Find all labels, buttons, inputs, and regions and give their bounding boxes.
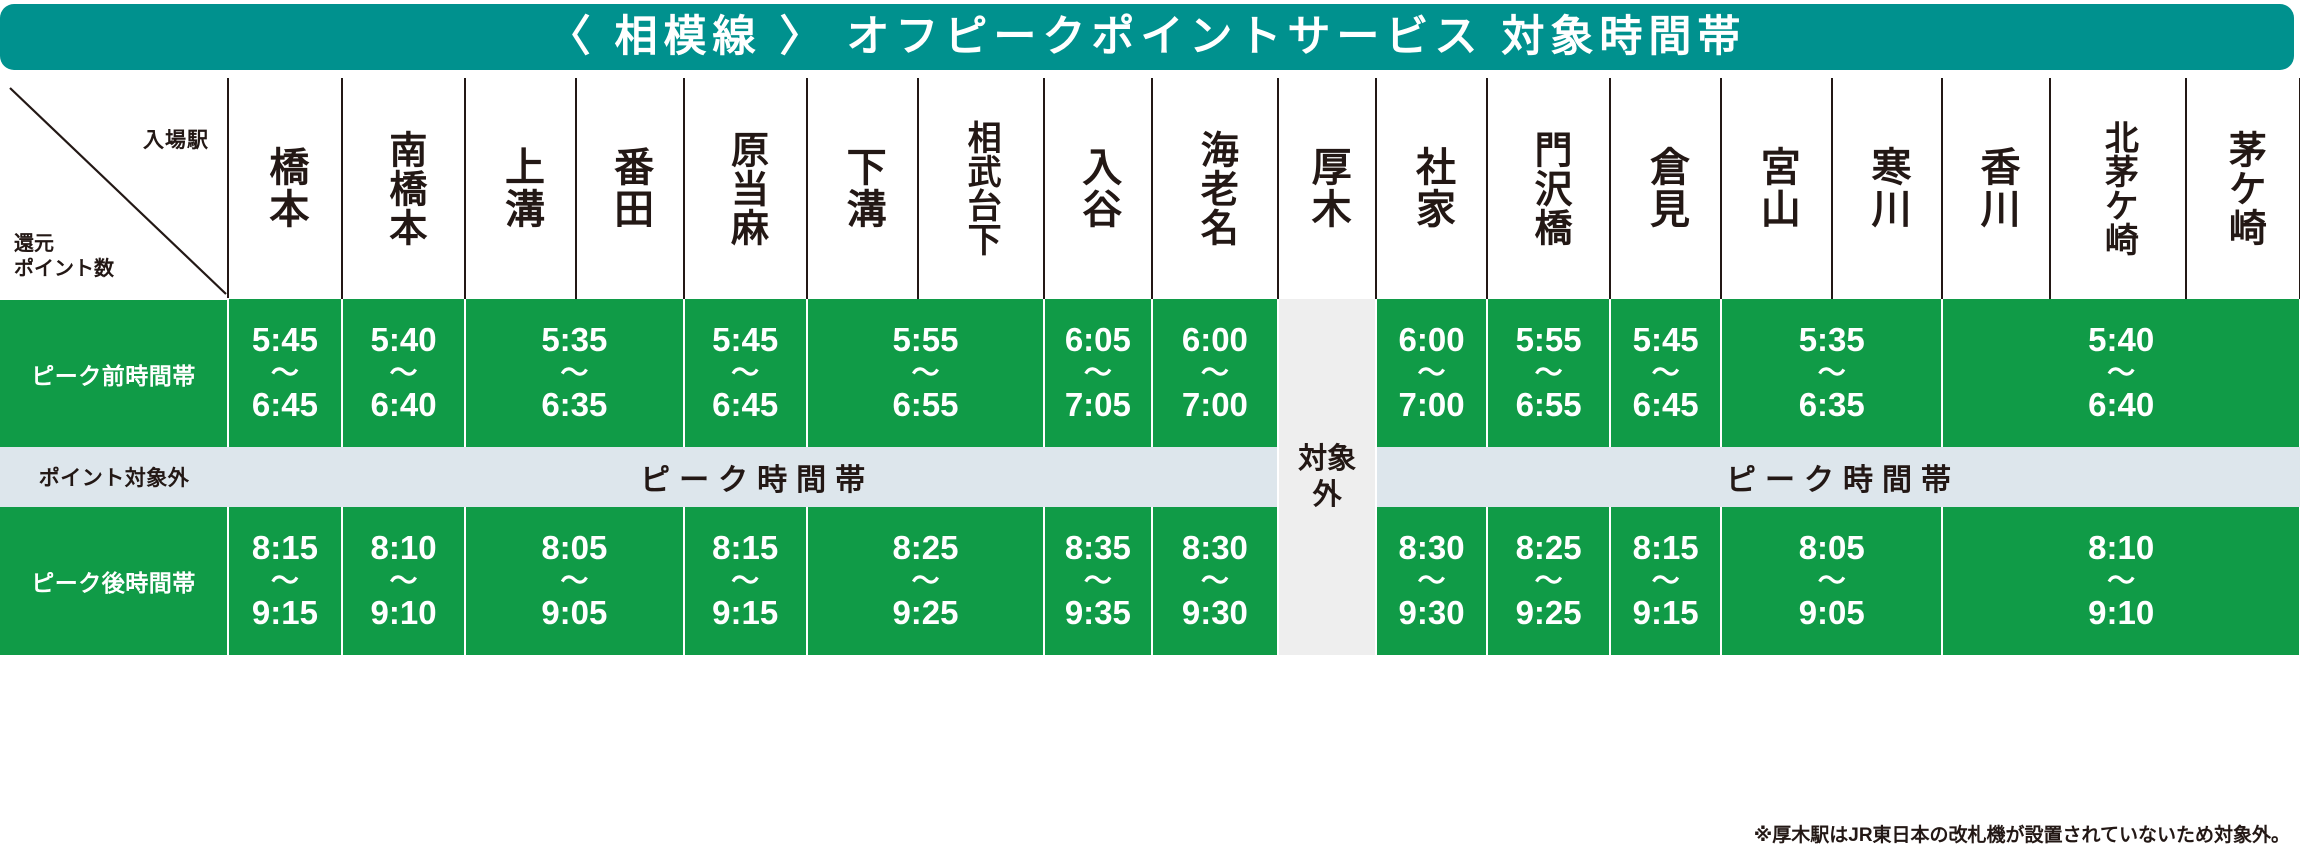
time-start: 8:15: [685, 530, 806, 567]
tilde-separator: 〜: [1943, 359, 2298, 387]
time-range-cell: 8:25〜9:25: [1487, 507, 1610, 655]
station-name: 原当麻: [726, 82, 765, 294]
station-header-3: 上溝: [465, 78, 576, 299]
time-end: 9:35: [1045, 595, 1151, 632]
station-name: 南橋本: [384, 82, 423, 294]
time-range-cell: 8:35〜9:35: [1044, 507, 1152, 655]
time-start: 5:45: [1611, 322, 1720, 359]
station-name: 北茅ケ崎: [2101, 82, 2136, 294]
time-start: 5:45: [685, 322, 806, 359]
time-end: 6:40: [1943, 387, 2298, 424]
station-name: 香川: [1976, 82, 2017, 294]
atsugi-excluded-line2: 外: [1279, 477, 1375, 513]
station-name: 下溝: [842, 82, 883, 294]
tilde-separator: 〜: [1153, 359, 1278, 387]
time-start: 5:55: [1488, 322, 1609, 359]
tilde-separator: 〜: [1722, 359, 1941, 387]
station-name: 海老名: [1196, 82, 1235, 294]
time-end: 6:55: [808, 387, 1043, 424]
offpeak-schedule-table: 入場駅還元ポイント数橋本南橋本上溝番田原当麻下溝相武台下入谷海老名厚木社家門沢橋…: [0, 78, 2300, 655]
time-end: 6:45: [229, 387, 341, 424]
station-name: 寒川: [1867, 82, 1908, 294]
time-range-cell: 5:45〜6:45: [684, 299, 807, 447]
station-name: 番田: [609, 82, 650, 294]
time-range-cell: 8:15〜9:15: [1610, 507, 1721, 655]
station-name: 橋本: [265, 82, 306, 294]
station-header-row: 入場駅還元ポイント数橋本南橋本上溝番田原当麻下溝相武台下入谷海老名厚木社家門沢橋…: [0, 78, 2300, 299]
time-range-cell: 8:15〜9:15: [228, 507, 342, 655]
time-start: 8:05: [466, 530, 682, 567]
time-range-cell: 8:10〜9:10: [342, 507, 465, 655]
page-title: 〈 相模線 〉 オフピークポイントサービス 対象時間帯: [548, 16, 1747, 59]
station-header-2: 南橋本: [342, 78, 465, 299]
time-start: 5:35: [466, 322, 682, 359]
time-end: 6:40: [343, 387, 464, 424]
tilde-separator: 〜: [1488, 567, 1609, 595]
tilde-separator: 〜: [466, 359, 682, 387]
time-start: 6:05: [1045, 322, 1151, 359]
station-name: 宮山: [1756, 82, 1797, 294]
time-start: 8:25: [808, 530, 1043, 567]
time-range-cell: 8:15〜9:15: [684, 507, 807, 655]
time-end: 9:25: [1488, 595, 1609, 632]
station-header-9: 海老名: [1152, 78, 1279, 299]
station-name: 相武台下: [964, 82, 999, 294]
time-range-cell: 8:30〜9:30: [1376, 507, 1487, 655]
time-end: 9:25: [808, 595, 1043, 632]
pre-peak-row-label: ピーク前時間帯: [0, 299, 228, 447]
post-peak-row: ピーク後時間帯8:15〜9:158:10〜9:108:05〜9:058:15〜9…: [0, 507, 2300, 655]
station-header-12: 門沢橋: [1487, 78, 1610, 299]
station-name: 上溝: [500, 82, 541, 294]
peak-band-left: ピーク時間帯: [228, 447, 1278, 507]
corner-header-cell: 入場駅還元ポイント数: [0, 78, 228, 299]
time-range-cell: 5:55〜6:55: [1487, 299, 1610, 447]
tilde-separator: 〜: [1153, 567, 1278, 595]
title-banner: 〈 相模線 〉 オフピークポイントサービス 対象時間帯: [0, 4, 2294, 70]
time-range-cell: 5:45〜6:45: [228, 299, 342, 447]
time-end: 9:15: [685, 595, 806, 632]
station-header-7: 相武台下: [918, 78, 1045, 299]
schedule-table-wrapper: 入場駅還元ポイント数橋本南橋本上溝番田原当麻下溝相武台下入谷海老名厚木社家門沢橋…: [0, 78, 2300, 655]
station-header-15: 寒川: [1832, 78, 1943, 299]
time-start: 8:30: [1153, 530, 1278, 567]
time-range-cell: 5:35〜6:35: [1721, 299, 1942, 447]
station-header-16: 香川: [1942, 78, 2050, 299]
time-end: 9:15: [229, 595, 341, 632]
time-start: 8:30: [1377, 530, 1486, 567]
time-range-cell: 5:35〜6:35: [465, 299, 683, 447]
tilde-separator: 〜: [808, 567, 1043, 595]
atsugi-excluded-line1: 対象: [1279, 441, 1375, 477]
tilde-separator: 〜: [229, 359, 341, 387]
station-header-13: 倉見: [1610, 78, 1721, 299]
time-start: 5:40: [343, 322, 464, 359]
time-range-cell: 8:05〜9:05: [465, 507, 683, 655]
tilde-separator: 〜: [1722, 567, 1941, 595]
time-start: 8:10: [1943, 530, 2298, 567]
time-range-cell: 8:25〜9:25: [807, 507, 1044, 655]
time-end: 7:05: [1045, 387, 1151, 424]
time-end: 6:35: [466, 387, 682, 424]
time-start: 8:35: [1045, 530, 1151, 567]
tilde-separator: 〜: [1611, 567, 1720, 595]
tilde-separator: 〜: [343, 567, 464, 595]
time-end: 7:00: [1153, 387, 1278, 424]
station-name: 厚木: [1307, 82, 1348, 294]
station-name: 入谷: [1077, 82, 1118, 294]
station-name: 倉見: [1645, 82, 1686, 294]
footnote-text: ※厚木駅はJR東日本の改札機が設置されていないため対象外。: [1754, 820, 2290, 847]
station-header-6: 下溝: [807, 78, 918, 299]
time-start: 8:15: [229, 530, 341, 567]
time-start: 5:55: [808, 322, 1043, 359]
station-header-10: 厚木: [1278, 78, 1376, 299]
tilde-separator: 〜: [1611, 359, 1720, 387]
time-start: 5:45: [229, 322, 341, 359]
tilde-separator: 〜: [685, 567, 806, 595]
tilde-separator: 〜: [1045, 359, 1151, 387]
time-end: 9:10: [343, 595, 464, 632]
reward-points-label: 還元ポイント数: [14, 232, 114, 282]
time-range-cell: 5:45〜6:45: [1610, 299, 1721, 447]
station-header-4: 番田: [576, 78, 684, 299]
station-header-18: 茅ケ崎: [2186, 78, 2300, 299]
tilde-separator: 〜: [1377, 567, 1486, 595]
time-range-cell: 5:40〜6:40: [1942, 299, 2299, 447]
time-end: 9:05: [1722, 595, 1941, 632]
tilde-separator: 〜: [1045, 567, 1151, 595]
entry-station-label: 入場駅: [143, 124, 209, 154]
time-end: 9:10: [1943, 595, 2298, 632]
atsugi-excluded-cell: 対象外: [1278, 299, 1376, 655]
tilde-separator: 〜: [808, 359, 1043, 387]
time-start: 8:25: [1488, 530, 1609, 567]
time-range-cell: 6:05〜7:05: [1044, 299, 1152, 447]
time-end: 9:30: [1153, 595, 1278, 632]
time-start: 8:10: [343, 530, 464, 567]
time-range-cell: 6:00〜7:00: [1152, 299, 1279, 447]
time-end: 6:45: [1611, 387, 1720, 424]
station-header-5: 原当麻: [684, 78, 807, 299]
time-range-cell: 8:05〜9:05: [1721, 507, 1942, 655]
tilde-separator: 〜: [1488, 359, 1609, 387]
station-header-14: 宮山: [1721, 78, 1832, 299]
station-header-8: 入谷: [1044, 78, 1152, 299]
time-range-cell: 6:00〜7:00: [1376, 299, 1487, 447]
reward-points-label-line2: ポイント数: [14, 258, 114, 280]
time-end: 6:35: [1722, 387, 1941, 424]
station-header-17: 北茅ケ崎: [2050, 78, 2186, 299]
time-range-cell: 8:10〜9:10: [1942, 507, 2299, 655]
time-end: 7:00: [1377, 387, 1486, 424]
peak-row: ポイント対象外ピーク時間帯ピーク時間帯: [0, 447, 2300, 507]
time-range-cell: 8:30〜9:30: [1152, 507, 1279, 655]
station-header-1: 橋本: [228, 78, 342, 299]
pre-peak-row: ピーク前時間帯5:45〜6:455:40〜6:405:35〜6:355:45〜6…: [0, 299, 2300, 447]
tilde-separator: 〜: [343, 359, 464, 387]
time-start: 8:05: [1722, 530, 1941, 567]
peak-row-label: ポイント対象外: [0, 447, 228, 507]
time-range-cell: 5:55〜6:55: [807, 299, 1044, 447]
time-start: 5:35: [1722, 322, 1941, 359]
time-end: 9:05: [466, 595, 682, 632]
time-start: 8:15: [1611, 530, 1720, 567]
time-end: 9:30: [1377, 595, 1486, 632]
station-name: 社家: [1411, 82, 1452, 294]
station-name: 門沢橋: [1529, 82, 1568, 294]
tilde-separator: 〜: [466, 567, 682, 595]
station-header-11: 社家: [1376, 78, 1487, 299]
time-start: 6:00: [1153, 322, 1278, 359]
station-name: 茅ケ崎: [2224, 82, 2263, 294]
time-range-cell: 5:40〜6:40: [342, 299, 465, 447]
time-start: 5:40: [1943, 322, 2298, 359]
reward-points-label-line1: 還元: [14, 233, 54, 255]
tilde-separator: 〜: [685, 359, 806, 387]
post-peak-row-label: ピーク後時間帯: [0, 507, 228, 655]
time-start: 6:00: [1377, 322, 1486, 359]
peak-band-right: ピーク時間帯: [1376, 447, 2300, 507]
time-end: 9:15: [1611, 595, 1720, 632]
time-end: 6:55: [1488, 387, 1609, 424]
tilde-separator: 〜: [229, 567, 341, 595]
tilde-separator: 〜: [1377, 359, 1486, 387]
tilde-separator: 〜: [1943, 567, 2298, 595]
time-end: 6:45: [685, 387, 806, 424]
